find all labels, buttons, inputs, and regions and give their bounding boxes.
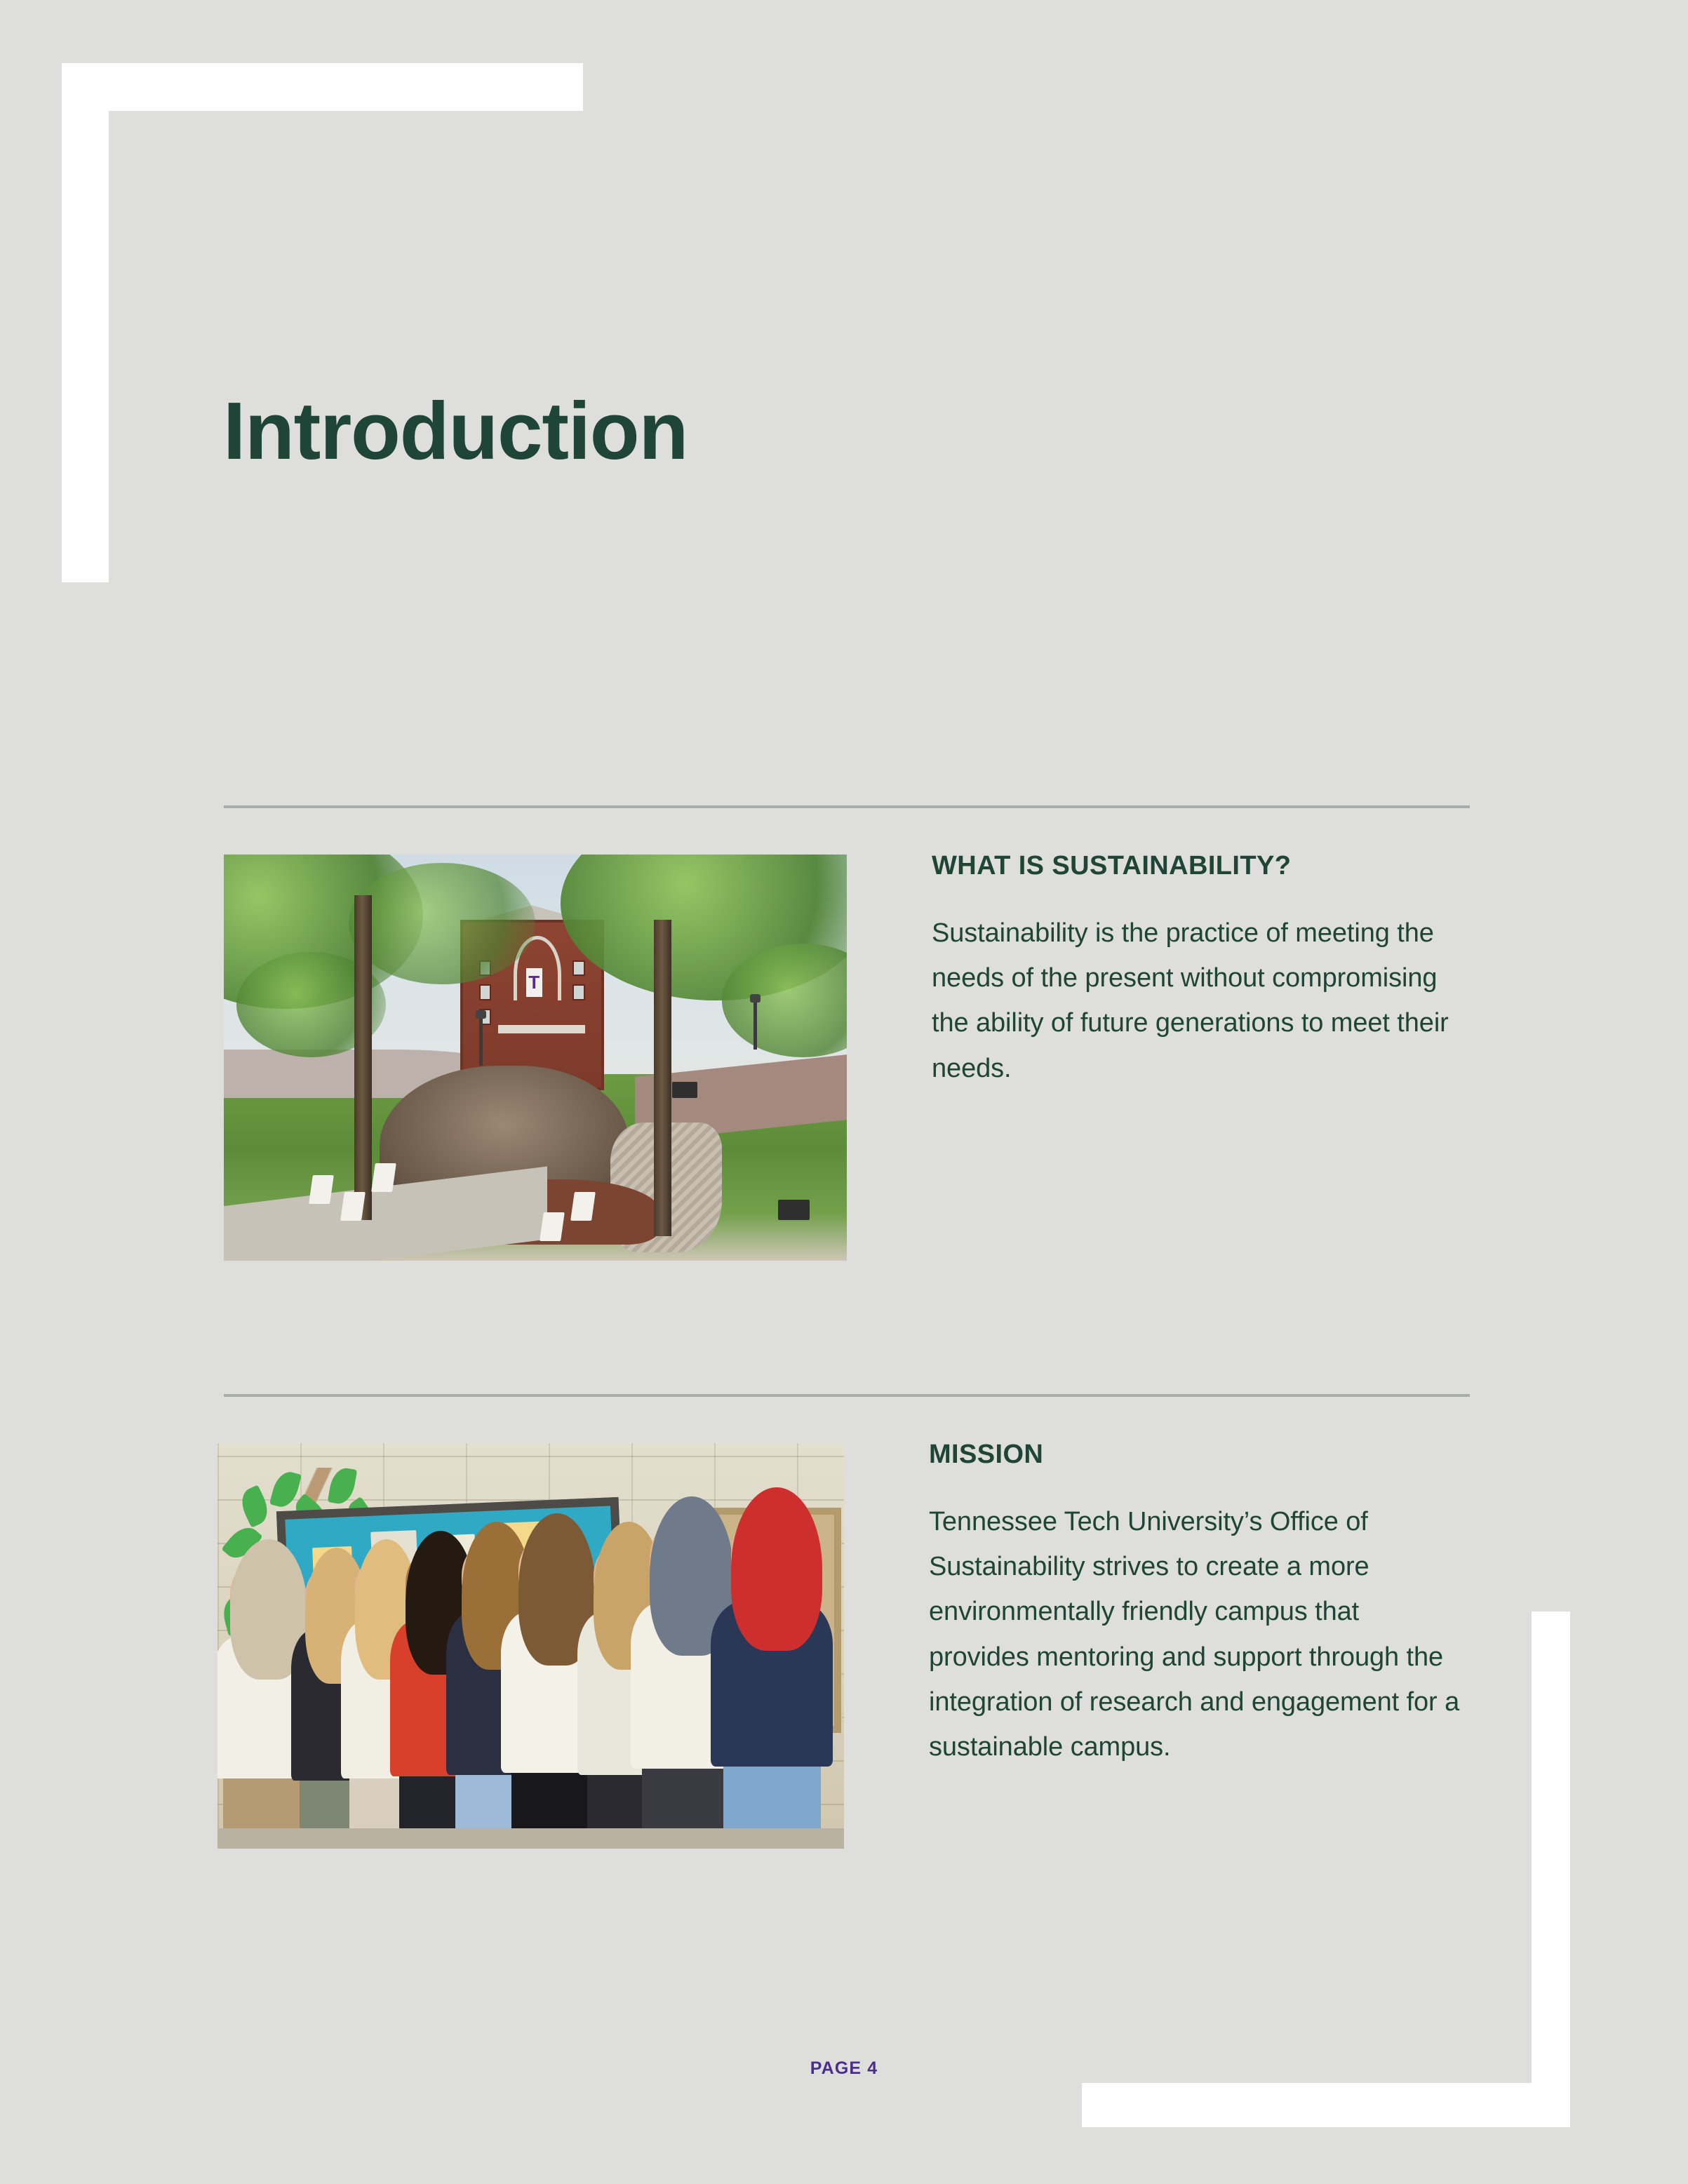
photo-building-t-logo: T xyxy=(526,968,542,997)
photo-lamp-post xyxy=(479,1017,483,1066)
section-body: T xyxy=(217,808,1463,1261)
section-paragraph: Tennessee Tech University’s Office of Su… xyxy=(929,1499,1463,1769)
photo-adirondack-chair xyxy=(340,1192,366,1221)
sustainability-team-group-photo xyxy=(217,1443,844,1849)
photo-person-head xyxy=(731,1508,812,1601)
page-title: Introduction xyxy=(223,389,688,472)
page-number-footer: PAGE 4 xyxy=(0,2058,1688,2079)
section-paragraph: Sustainability is the practice of meetin… xyxy=(932,911,1463,1091)
photo-pergola xyxy=(498,1025,585,1033)
photo-window xyxy=(479,984,491,1000)
photo-tree-canopy xyxy=(349,863,535,985)
photo-person-head xyxy=(230,1557,299,1636)
photo-window xyxy=(572,984,584,1000)
section-mission: MISSION Tennessee Tech University’s Offi… xyxy=(217,1394,1463,1849)
photo-adirondack-chair xyxy=(371,1163,396,1192)
section-text-column: MISSION Tennessee Tech University’s Offi… xyxy=(844,1397,1463,1769)
section-heading: MISSION xyxy=(929,1440,1463,1470)
campus-quad-photo: T xyxy=(224,855,847,1261)
photo-lamp-post xyxy=(753,1000,757,1049)
photo-person xyxy=(731,1508,812,1849)
section-body: MISSION Tennessee Tech University’s Offi… xyxy=(217,1397,1463,1849)
photo-person-head xyxy=(650,1516,725,1602)
photo-person-head xyxy=(355,1557,411,1621)
photo-person-cap xyxy=(731,1487,822,1651)
document-page: Introduction T xyxy=(0,0,1688,2184)
photo-floor xyxy=(217,1828,844,1849)
corner-bracket-top-left-horizontal xyxy=(62,63,583,111)
corner-bracket-bottom-right-horizontal xyxy=(1082,2083,1570,2127)
photo-tree-trunk xyxy=(354,895,372,1220)
photo-person-head xyxy=(406,1548,468,1621)
corner-bracket-bottom-right-vertical xyxy=(1532,1612,1570,2127)
photo-person-head xyxy=(594,1541,656,1613)
section-heading: WHAT IS SUSTAINABILITY? xyxy=(932,851,1463,881)
photo-person-head xyxy=(305,1565,361,1629)
photo-adirondack-chair xyxy=(309,1175,334,1204)
photo-person-head xyxy=(462,1541,524,1613)
photo-person-head xyxy=(518,1532,587,1612)
photo-bench xyxy=(672,1082,697,1098)
photo-person xyxy=(230,1557,299,1849)
corner-bracket-top-left-vertical xyxy=(62,63,109,582)
photo-person xyxy=(518,1532,587,1849)
section-what-is-sustainability: T xyxy=(217,805,1463,1261)
section-text-column: WHAT IS SUSTAINABILITY? Sustainability i… xyxy=(847,808,1463,1091)
photo-adirondack-chair xyxy=(540,1212,565,1241)
photo-adirondack-chair xyxy=(570,1192,596,1221)
photo-tree-trunk xyxy=(654,920,671,1237)
photo-bench xyxy=(778,1200,809,1220)
photo-window xyxy=(572,960,584,977)
